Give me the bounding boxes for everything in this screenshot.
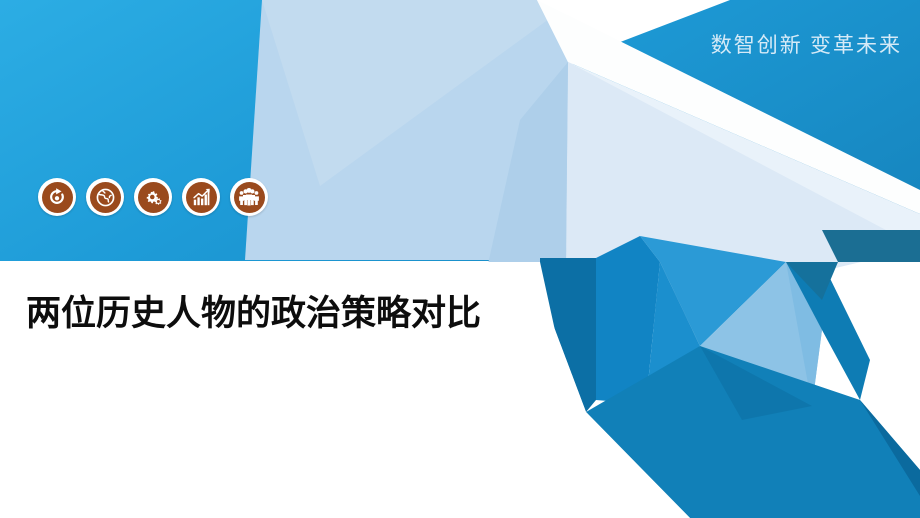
poly-lower-dark-left bbox=[540, 258, 596, 412]
poly-bottom-ribbon-edge bbox=[860, 400, 920, 496]
icon-badge-refresh[interactable] bbox=[38, 178, 76, 216]
slide-tagline: 数智创新 变革未来 bbox=[711, 29, 902, 59]
refresh-arrow-icon bbox=[42, 182, 73, 213]
poly-lower-azure-low bbox=[646, 262, 700, 404]
presentation-slide: 数智创新 变革未来 bbox=[0, 0, 920, 518]
page-title: 两位历史人物的政治策略对比 bbox=[26, 292, 526, 337]
poly-bottom-ribbon-dark bbox=[700, 346, 812, 420]
people-group-icon bbox=[234, 182, 265, 213]
icon-badge-globe[interactable] bbox=[86, 178, 124, 216]
poly-midblue-fan bbox=[560, 260, 700, 340]
poly-lower-midblue-left bbox=[596, 236, 660, 404]
bar-chart-icon bbox=[186, 182, 217, 213]
poly-lower-pale-right-hi bbox=[786, 262, 822, 406]
icon-badge-people-group[interactable] bbox=[230, 178, 268, 216]
feature-icon-row bbox=[38, 178, 268, 216]
gears-icon bbox=[138, 182, 169, 213]
icon-badge-gears[interactable] bbox=[134, 178, 172, 216]
icon-badge-bar-chart[interactable] bbox=[182, 178, 220, 216]
poly-lower-deep-right bbox=[786, 262, 870, 400]
poly-teal-corner-lower bbox=[786, 262, 838, 300]
poly-bottom-ribbon bbox=[586, 346, 920, 518]
globe-icon bbox=[90, 182, 121, 213]
poly-white-lower-right bbox=[586, 412, 690, 518]
poly-mid-body-light bbox=[560, 260, 700, 340]
poly-lower-pale-right bbox=[700, 262, 822, 420]
